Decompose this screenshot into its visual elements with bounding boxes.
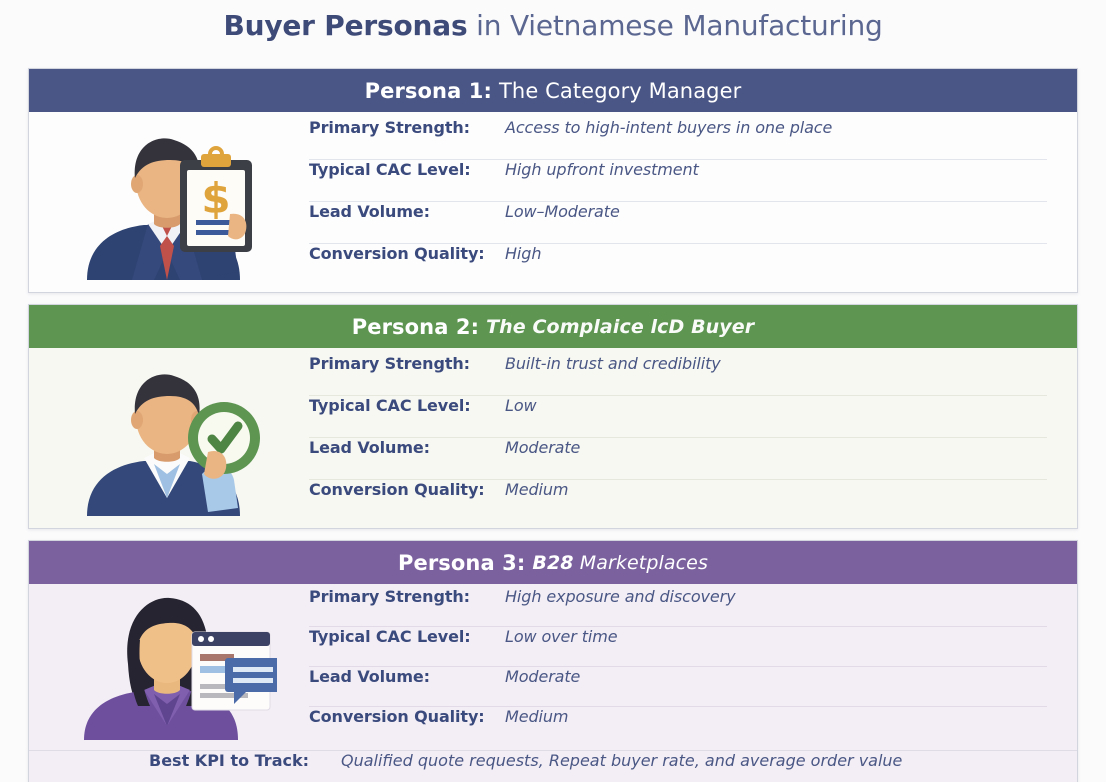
table-row: Conversion Quality: Medium [309,480,1047,522]
businessman-with-clipboard-dollar-icon: $ [62,120,277,280]
persona-3-rows: Primary Strength: High exposure and disc… [309,584,1077,750]
table-row: Lead Volume: Moderate [309,438,1047,480]
persona-card-3: Persona 3:B28 Marketplaces [28,540,1078,782]
table-row: Lead Volume: Low–Moderate [309,202,1047,244]
row-label: Typical CAC Level: [309,627,505,646]
page-title-bold: Buyer Personas [223,9,467,42]
persona-2-illustration-area [29,348,309,528]
page-title: Buyer Personas in Vietnamese Manufacturi… [0,0,1106,45]
persona-3-header-subtitle: B28 Marketplaces [532,552,708,574]
persona-3-header: Persona 3:B28 Marketplaces [29,541,1077,584]
table-row: Typical CAC Level: High upfront investme… [309,160,1047,202]
persona-2-header: Persona 2:The Complaice lcD Buyer [29,305,1077,348]
table-row: Conversion Quality: High [309,244,1047,286]
persona-2-rows: Primary Strength: Built-in trust and cre… [309,348,1077,528]
row-label: Conversion Quality: [309,480,505,499]
table-row: Lead Volume: Moderate [309,667,1047,707]
table-row: Typical CAC Level: Low [309,396,1047,438]
best-kpi-row: Best KPI to Track: Qualified quote reque… [29,750,1077,782]
row-value: Low [505,396,537,415]
persona-1-header-subtitle: The Category Manager [499,79,741,103]
persona-3-kpi-wrapper: Best KPI to Track: Qualified quote reque… [29,750,1077,782]
table-row: Primary Strength: High exposure and disc… [309,587,1047,627]
row-value: Access to high-intent buyers in one plac… [505,118,832,137]
persona-2-header-number: Persona 2: [352,315,479,339]
persona-card-2: Persona 2:The Complaice lcD Buyer [28,304,1078,529]
svg-text:$: $ [201,174,230,223]
row-value: Medium [505,480,568,499]
row-label: Lead Volume: [309,667,505,686]
persona-3-illustration-area [29,584,309,750]
best-kpi-value: Qualified quote requests, Repeat buyer r… [341,751,902,770]
row-value: Medium [505,707,568,726]
table-row: Primary Strength: Access to high-intent … [309,118,1047,160]
row-value: Moderate [505,438,580,457]
row-label: Typical CAC Level: [309,160,505,179]
best-kpi-label: Best KPI to Track: [149,751,341,770]
persona-1-body: $ Primary Strength: Access to high-inten… [29,112,1077,292]
row-label: Conversion Quality: [309,244,505,263]
persona-card-1: Persona 1:The Category Manager [28,68,1078,293]
row-value: High upfront investment [505,160,699,179]
row-label: Primary Strength: [309,354,505,373]
persona-1-header-number: Persona 1: [365,79,492,103]
table-row: Typical CAC Level: Low over time [309,627,1047,667]
row-label: Typical CAC Level: [309,396,505,415]
row-label: Lead Volume: [309,202,505,221]
persona-1-illustration-area: $ [29,112,309,292]
persona-2-header-subtitle: The Complaice lcD Buyer [486,316,754,338]
persona-3-header-number: Persona 3: [398,551,525,575]
persona-3-header-subtitle-rest: Marketplaces [574,552,708,574]
man-with-green-check-badge-icon [62,356,277,516]
row-value: High [505,244,541,263]
woman-with-browser-chat-window-icon [62,590,277,740]
persona-3-body: Primary Strength: High exposure and disc… [29,584,1077,750]
row-label: Primary Strength: [309,587,505,606]
row-value: Low over time [505,627,618,646]
row-value: Low–Moderate [505,202,620,221]
persona-2-body: Primary Strength: Built-in trust and cre… [29,348,1077,528]
row-value: High exposure and discovery [505,587,735,606]
persona-3-header-subtitle-emphasis: B28 [532,552,573,574]
persona-1-rows: Primary Strength: Access to high-intent … [309,112,1077,292]
table-row: Primary Strength: Built-in trust and cre… [309,354,1047,396]
row-label: Primary Strength: [309,118,505,137]
row-label: Conversion Quality: [309,707,505,726]
persona-card-list: Persona 1:The Category Manager [28,68,1078,782]
row-value: Built-in trust and credibility [505,354,721,373]
page-title-regular: in Vietnamese Manufacturing [467,9,882,42]
persona-1-header: Persona 1:The Category Manager [29,69,1077,112]
row-value: Moderate [505,667,580,686]
row-label: Lead Volume: [309,438,505,457]
table-row: Conversion Quality: Medium [309,707,1047,747]
